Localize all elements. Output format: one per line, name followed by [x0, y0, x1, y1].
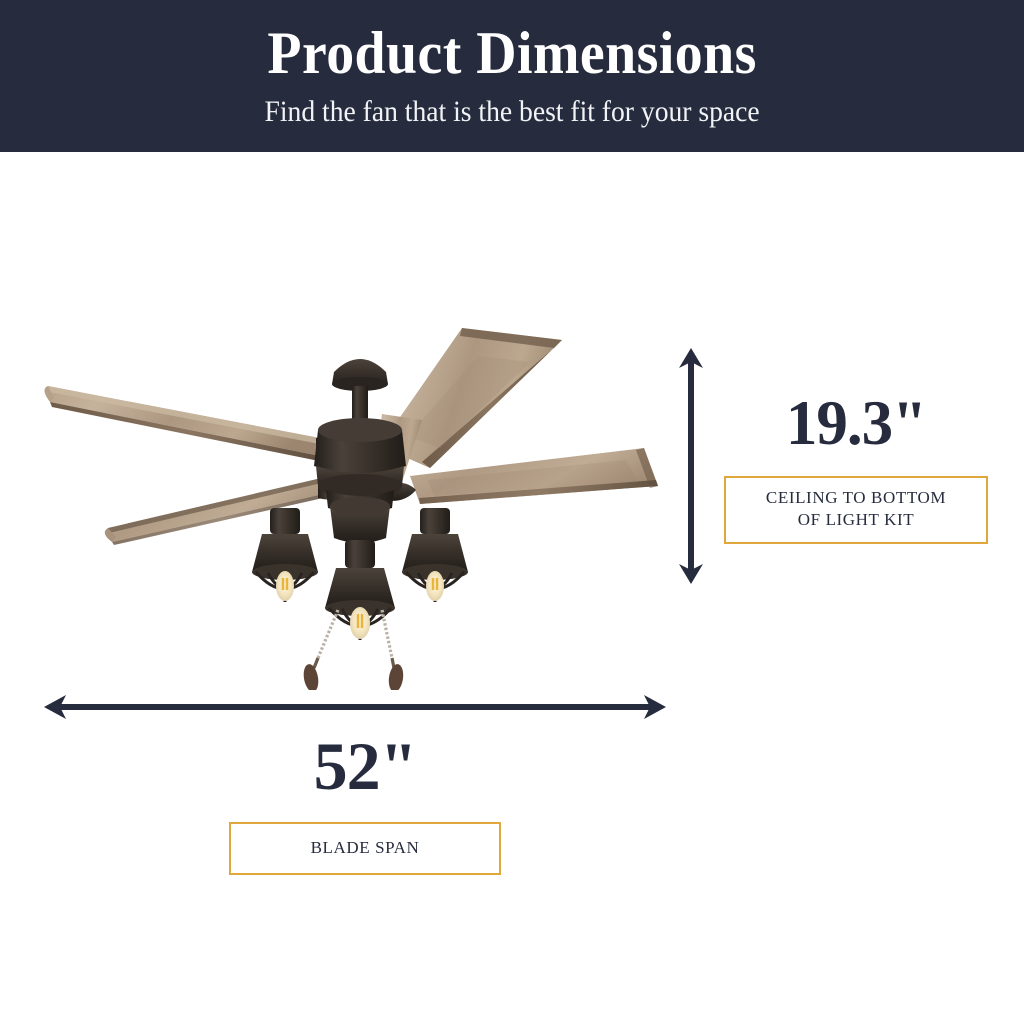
blade-span-value: 52" — [180, 732, 550, 800]
height-value: 19.3" — [722, 392, 990, 455]
pull-chain-right — [382, 610, 405, 690]
light-kit-fitter — [330, 497, 390, 543]
page-subtitle: Find the fan that is the best fit for yo… — [264, 95, 759, 129]
light-shade-left — [252, 508, 318, 602]
light-shade-right — [402, 508, 468, 602]
fan-blade-upper-left — [44, 386, 330, 463]
double-headed-horizontal-arrow-icon — [40, 686, 670, 728]
blade-span-label-box: BLADE SPAN — [229, 822, 501, 875]
double-headed-vertical-arrow-icon — [668, 344, 714, 588]
ceiling-fan-graphic — [30, 290, 670, 690]
fan-blade-right — [410, 448, 658, 504]
ceiling-fan-illustration — [30, 290, 670, 690]
pull-chain-left — [302, 610, 338, 690]
product-dimensions-infographic: Product Dimensions Find the fan that is … — [0, 0, 1024, 1024]
header-banner: Product Dimensions Find the fan that is … — [0, 0, 1024, 152]
measurement-height: 19.3" CEILING TO BOTTOM OF LIGHT KIT — [722, 392, 990, 544]
height-label-line-2: OF LIGHT KIT — [798, 510, 914, 529]
vertical-dimension-arrow — [668, 344, 714, 588]
height-label-box: CEILING TO BOTTOM OF LIGHT KIT — [724, 476, 988, 544]
fan-canopy-and-downrod — [332, 359, 388, 428]
blade-span-label-line-1: BLADE SPAN — [311, 838, 420, 857]
page-title: Product Dimensions — [267, 23, 756, 84]
measurement-blade-span: 52" BLADE SPAN — [180, 732, 550, 875]
height-label-line-1: CEILING TO BOTTOM — [766, 488, 946, 507]
horizontal-dimension-arrow — [40, 686, 670, 728]
